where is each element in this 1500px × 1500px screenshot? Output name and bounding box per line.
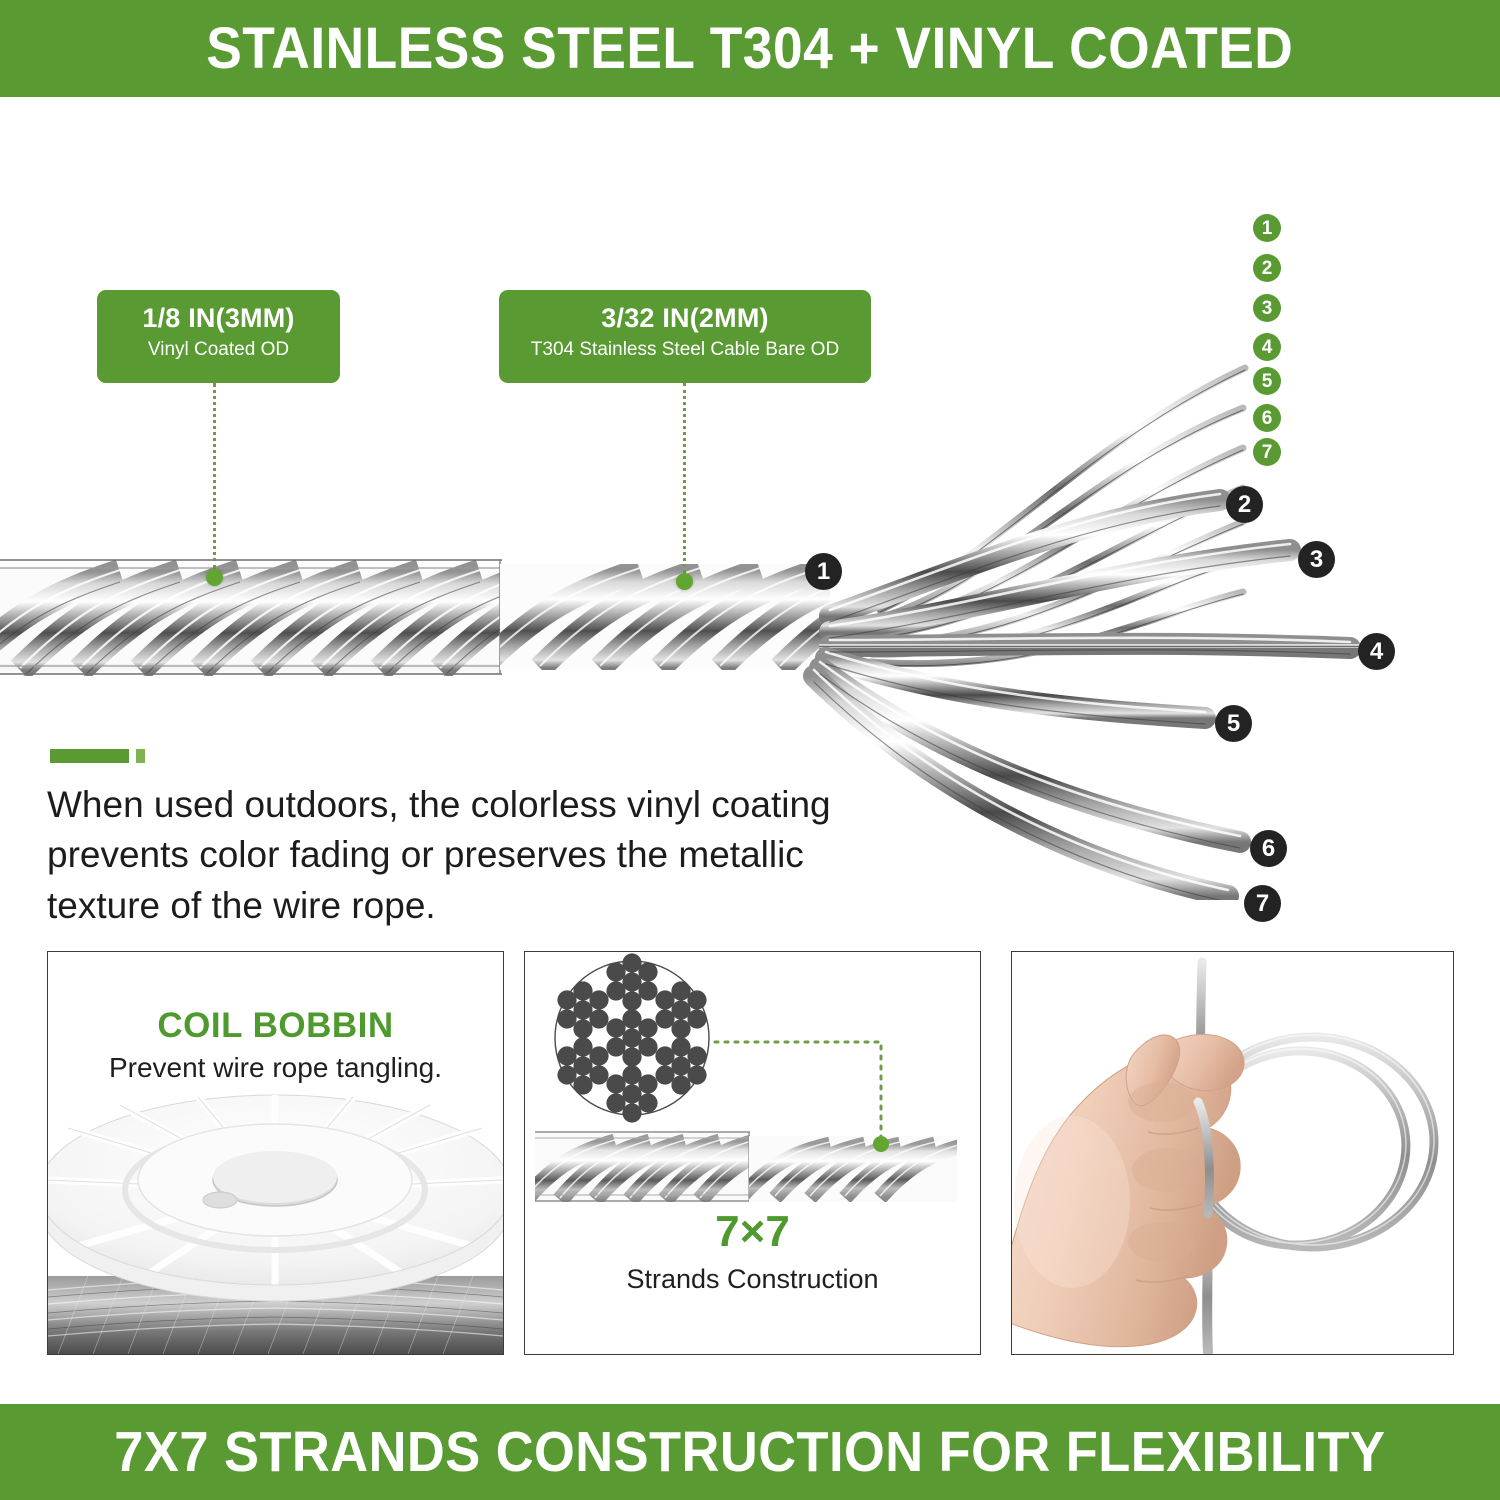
- strands-subtitle: Strands Construction: [525, 1264, 980, 1295]
- leader-line-bare: [683, 383, 686, 579]
- callout-bare-subtitle: T304 Stainless Steel Cable Bare OD: [517, 338, 853, 363]
- top-banner: STAINLESS STEEL T304 + VINYL COATED: [0, 0, 1500, 97]
- cross-section-diagram: [525, 952, 980, 1202]
- callout-vinyl-subtitle: Vinyl Coated OD: [115, 338, 322, 363]
- panel-coil-bobbin: COIL BOBBIN Prevent wire rope tangling.: [47, 951, 504, 1355]
- strand-badge-6: 6: [1250, 830, 1287, 867]
- wire-badge-7: 7: [1253, 438, 1281, 466]
- strand-badge-1: 1: [805, 553, 842, 590]
- accent-bar: [50, 749, 145, 763]
- strand-badge-7: 7: [1244, 885, 1281, 922]
- wire-badge-4: 4: [1253, 333, 1281, 361]
- callout-vinyl-coated-od: 1/8 IN(3MM) Vinyl Coated OD: [97, 290, 340, 383]
- cross-section-wires: [557, 953, 706, 1122]
- strand-badge-3: 3: [1298, 541, 1335, 578]
- leader-line-vinyl: [213, 383, 216, 569]
- wire-badge-1: 1: [1253, 214, 1281, 242]
- coil-bobbin-image: [48, 1094, 503, 1354]
- panel-hand-flexibility: [1011, 951, 1454, 1355]
- strand-badge-4: 4: [1358, 633, 1395, 670]
- strand-badge-5: 5: [1215, 705, 1252, 742]
- hand-holding-cable-image: [1012, 952, 1453, 1354]
- panel-strands-construction: 7×7 Strands Construction: [524, 951, 981, 1355]
- accent-bar-short: [136, 749, 145, 763]
- callout-bare-title: 3/32 IN(2MM): [517, 302, 853, 335]
- cross-section-leader-line: [715, 1042, 881, 1138]
- strand-badge-2: 2: [1226, 486, 1263, 523]
- wire-badge-5: 5: [1253, 367, 1281, 395]
- wire-badge-2: 2: [1253, 254, 1281, 282]
- bottom-banner-text: 7X7 STRANDS CONSTRUCTION FOR FLEXIBILITY: [114, 1419, 1385, 1485]
- bobbin-subtitle: Prevent wire rope tangling.: [48, 1052, 503, 1084]
- top-banner-text: STAINLESS STEEL T304 + VINYL COATED: [206, 15, 1293, 82]
- panel-cable-bare: [740, 1136, 970, 1202]
- product-infographic: STAINLESS STEEL T304 + VINYL COATED: [0, 0, 1500, 1500]
- strands-title: 7×7: [525, 1207, 980, 1257]
- panel-anchor-dot: [873, 1136, 889, 1152]
- wire-badge-3: 3: [1253, 294, 1281, 322]
- anchor-dot-bare: [676, 573, 693, 590]
- bobbin-title: COIL BOBBIN: [48, 1006, 503, 1046]
- accent-bar-long: [50, 749, 129, 763]
- callout-bare-od: 3/32 IN(2MM) T304 Stainless Steel Cable …: [499, 290, 871, 383]
- description-text: When used outdoors, the colorless vinyl …: [47, 780, 857, 931]
- callout-vinyl-title: 1/8 IN(3MM): [115, 302, 322, 335]
- wire-badge-6: 6: [1253, 404, 1281, 432]
- anchor-dot-vinyl: [206, 569, 223, 586]
- bottom-banner: 7X7 STRANDS CONSTRUCTION FOR FLEXIBILITY: [0, 1404, 1500, 1500]
